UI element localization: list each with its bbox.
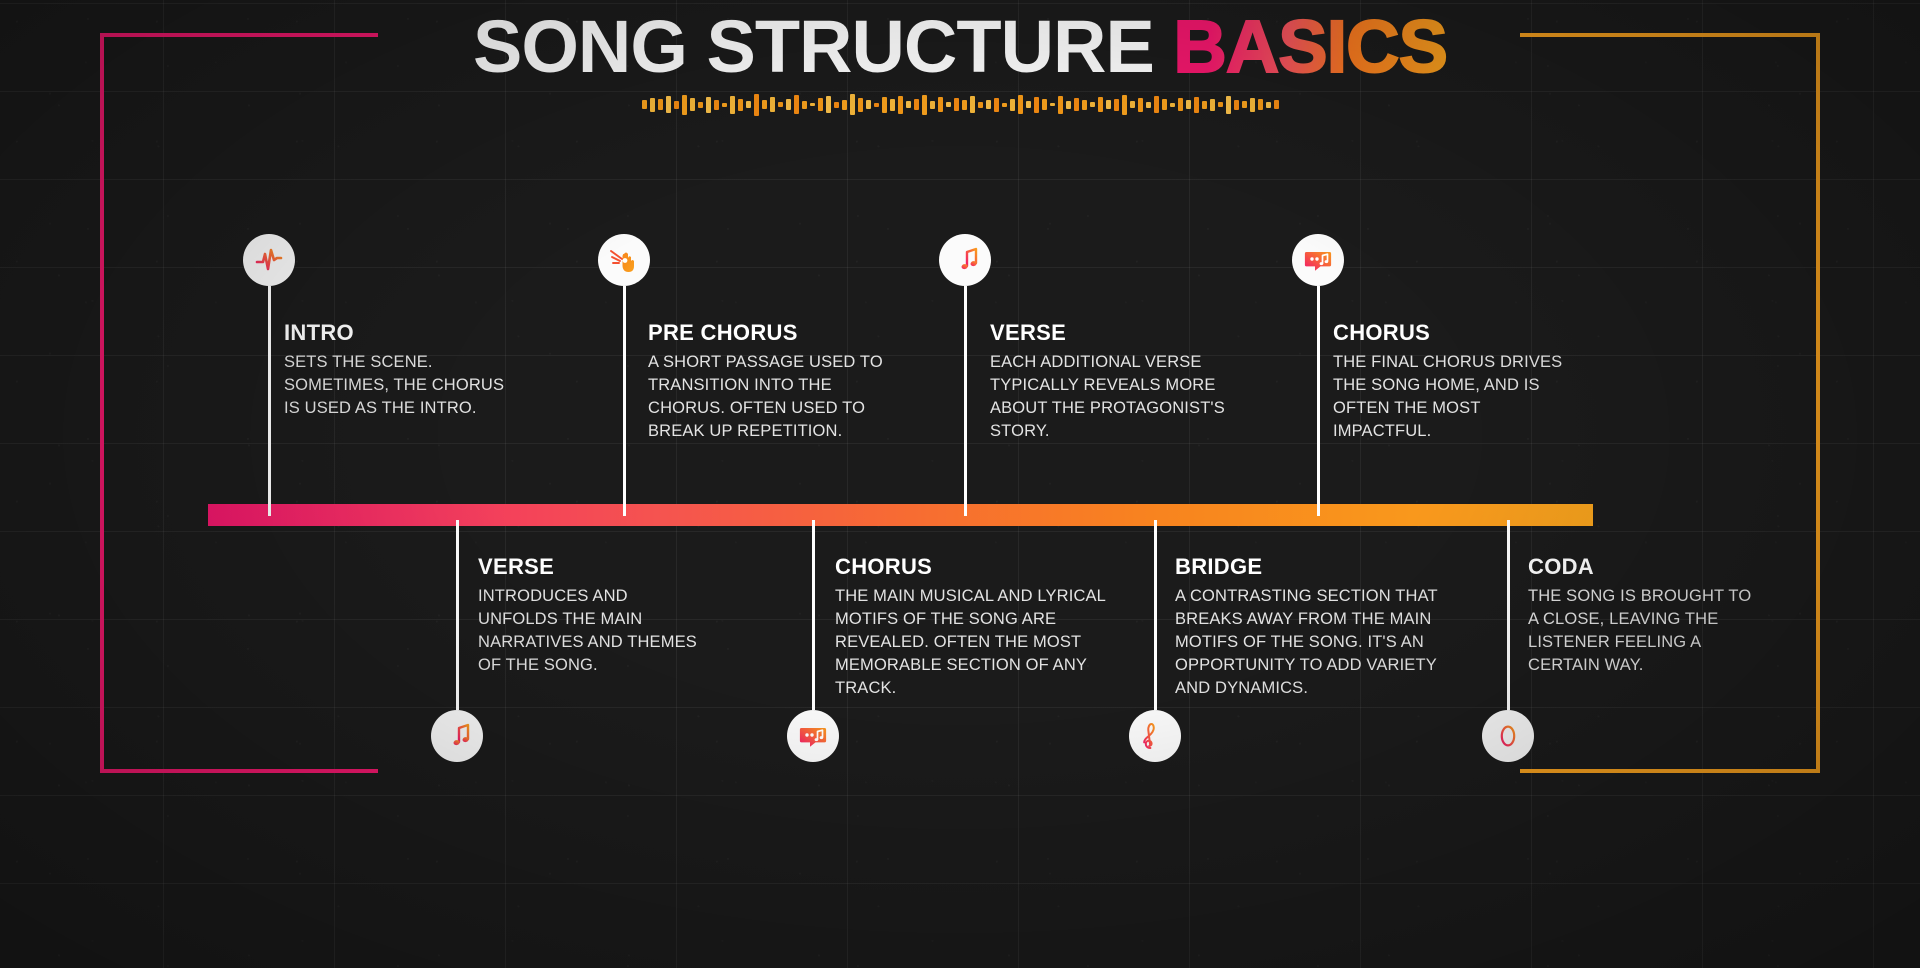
header: SONG STRUCTURE BASICS [0, 0, 1920, 118]
section-description-verse-2: EACH ADDITIONAL VERSE TYPICALLY REVEALS … [990, 351, 1255, 443]
waveform-bar [658, 99, 663, 110]
waveform-bar [890, 99, 895, 111]
connector-line [1507, 520, 1510, 710]
waveform-bar [722, 103, 727, 107]
waveform-bar [1266, 102, 1271, 108]
waveform-bar [786, 99, 791, 110]
waveform-bar [994, 98, 999, 112]
connector-line [623, 286, 626, 516]
waveform-bar [1106, 100, 1111, 109]
waveform-bar [1258, 99, 1263, 110]
waveform-bar [834, 102, 839, 108]
waveform-bar [770, 97, 775, 112]
section-icon-badge-chorus-2[interactable] [1292, 234, 1344, 286]
section-text-bridge: BRIDGEA CONTRASTING SECTION THAT BREAKS … [1175, 556, 1460, 700]
section-text-coda: CODATHE SONG IS BROUGHT TO A CLOSE, LEAV… [1528, 556, 1763, 677]
music-note-list-icon [442, 721, 472, 751]
section-title-intro: INTRO [284, 322, 524, 344]
waveform-bar [690, 98, 695, 111]
waveform-bar [954, 98, 959, 111]
waveform-bar [898, 96, 903, 114]
waveform-bar [866, 100, 871, 109]
section-title-verse-2: VERSE [990, 322, 1255, 344]
waveform-bar [674, 101, 679, 109]
page-title-accent: BASICS [1173, 5, 1447, 88]
section-icon-badge-verse-2[interactable] [939, 234, 991, 286]
waveform-bar [666, 96, 671, 113]
waveform-bar [1042, 99, 1047, 110]
waveform-bar [1090, 102, 1095, 107]
waveform-bar [1170, 103, 1175, 107]
section-icon-badge-pre-chorus[interactable] [598, 234, 650, 286]
waveform-bar [1002, 103, 1007, 107]
waveform-bar [1218, 102, 1223, 107]
waveform-bar [642, 100, 647, 109]
section-icon-badge-chorus-1[interactable] [787, 710, 839, 762]
section-description-coda: THE SONG IS BROUGHT TO A CLOSE, LEAVING … [1528, 585, 1763, 677]
waveform-bar [794, 95, 799, 114]
section-title-chorus-1: CHORUS [835, 556, 1135, 578]
waveform-bar [978, 102, 983, 108]
speech-bubble-music-icon [798, 721, 828, 751]
waveform-bar [698, 102, 703, 108]
connector-line [812, 520, 815, 710]
connector-line [1317, 286, 1320, 516]
waveform-bar [650, 98, 655, 112]
waveform-bar [1242, 101, 1247, 108]
waveform-bar [1082, 100, 1087, 110]
section-description-pre-chorus: A SHORT PASSAGE USED TO TRANSITION INTO … [648, 351, 898, 443]
waveform-bar [818, 98, 823, 111]
waveform-bar [1186, 100, 1191, 109]
waveform-bar [778, 102, 783, 107]
waveform-bar [986, 100, 991, 109]
section-text-chorus-2: CHORUSTHE FINAL CHORUS DRIVES THE SONG H… [1333, 322, 1563, 443]
section-icon-badge-bridge[interactable] [1129, 710, 1181, 762]
waveform-bar [1074, 98, 1079, 111]
waveform-bar [938, 97, 943, 112]
section-icon-badge-coda[interactable] [1482, 710, 1534, 762]
coda-symbol-icon [1493, 721, 1523, 751]
page-title: SONG STRUCTURE BASICS [0, 8, 1920, 86]
waveform-bar [1146, 102, 1151, 108]
waveform-bar [1162, 99, 1167, 110]
speech-bubble-music-icon [1303, 245, 1333, 275]
section-title-coda: CODA [1528, 556, 1763, 578]
waveform-bar [738, 99, 743, 111]
waveform-bar [1194, 97, 1199, 113]
waveform-bar [1234, 100, 1239, 110]
waveform-bar [802, 101, 807, 109]
waveform-bar [1250, 98, 1255, 112]
finger-snap-icon [609, 245, 639, 275]
waveform-bar [906, 101, 911, 108]
waveform-bar [1026, 101, 1031, 108]
waveform-bar [1034, 97, 1039, 113]
waveform-bar [810, 103, 815, 106]
section-icon-badge-verse-1[interactable] [431, 710, 483, 762]
waveform-bar [1274, 100, 1279, 109]
waveform-bar [1010, 99, 1015, 111]
waveform-bar [1058, 96, 1063, 114]
waveform-bar [1210, 99, 1215, 111]
waveform-bar [842, 100, 847, 110]
section-title-pre-chorus: PRE CHORUS [648, 322, 898, 344]
timeline-bar [208, 504, 1593, 526]
section-description-bridge: A CONTRASTING SECTION THAT BREAKS AWAY F… [1175, 585, 1460, 700]
waveform-bar [962, 100, 967, 110]
waveform-bar [970, 96, 975, 113]
waveform-bar [1154, 96, 1159, 113]
section-title-chorus-2: CHORUS [1333, 322, 1563, 344]
waveform-bar [930, 101, 935, 109]
section-description-intro: SETS THE SCENE. SOMETIMES, THE CHORUS IS… [284, 351, 524, 420]
waveform-bar [682, 95, 687, 115]
connector-line [268, 286, 271, 516]
waveform-bar [874, 103, 879, 107]
waveform-bar [730, 96, 735, 114]
waveform-bar [1122, 95, 1127, 115]
connector-line [964, 286, 967, 516]
waveform-bar [922, 95, 927, 115]
section-title-verse-1: VERSE [478, 556, 708, 578]
connector-line [456, 520, 459, 710]
connector-line [1154, 520, 1157, 710]
section-icon-badge-intro[interactable] [243, 234, 295, 286]
section-description-chorus-2: THE FINAL CHORUS DRIVES THE SONG HOME, A… [1333, 351, 1563, 443]
waveform-bar [1202, 101, 1207, 109]
treble-clef-icon [1140, 721, 1170, 751]
waveform-bar [1098, 97, 1103, 112]
section-description-verse-1: INTRODUCES AND UNFOLDS THE MAIN NARRATIV… [478, 585, 708, 677]
page-title-main: SONG STRUCTURE [473, 5, 1173, 88]
waveform-bar [826, 96, 831, 113]
waveform-bar [1178, 98, 1183, 111]
waveform-bar [714, 100, 719, 110]
waveform-bar [850, 94, 855, 115]
waveform-bar [1226, 96, 1231, 114]
section-description-chorus-1: THE MAIN MUSICAL AND LYRICAL MOTIFS OF T… [835, 585, 1135, 700]
waveform-bar [754, 94, 759, 116]
section-text-verse-2: VERSEEACH ADDITIONAL VERSE TYPICALLY REV… [990, 322, 1255, 443]
waveform-bar [1066, 101, 1071, 109]
pulse-waveform-icon [254, 245, 284, 275]
waveform-bar [946, 102, 951, 107]
waveform-bar [914, 99, 919, 110]
section-text-verse-1: VERSEINTRODUCES AND UNFOLDS THE MAIN NAR… [478, 556, 708, 677]
waveform-bar [746, 101, 751, 108]
waveform-bar [1050, 103, 1055, 106]
waveform-bar [1114, 99, 1119, 111]
section-text-chorus-1: CHORUSTHE MAIN MUSICAL AND LYRICAL MOTIF… [835, 556, 1135, 700]
waveform-bar [882, 97, 887, 113]
section-text-intro: INTROSETS THE SCENE. SOMETIMES, THE CHOR… [284, 322, 524, 420]
section-text-pre-chorus: PRE CHORUSA SHORT PASSAGE USED TO TRANSI… [648, 322, 898, 443]
music-note-list-icon [950, 245, 980, 275]
waveform-bar [1130, 101, 1135, 108]
waveform-bar [1018, 95, 1023, 114]
section-title-bridge: BRIDGE [1175, 556, 1460, 578]
waveform-bar [762, 100, 767, 109]
waveform-bar [1138, 98, 1143, 112]
waveform-bar [706, 97, 711, 113]
audio-waveform-decoration [0, 92, 1920, 118]
waveform-bar [858, 98, 863, 112]
